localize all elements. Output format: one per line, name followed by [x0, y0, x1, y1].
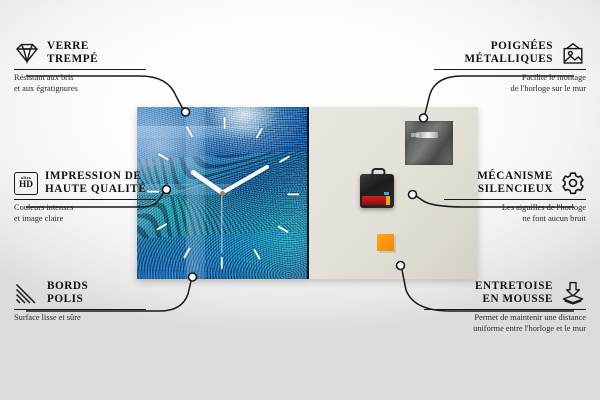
feature-verre-trempe: VERRE TREMPÉ Résistant aux bris et aux é… — [14, 40, 146, 95]
clock-tick — [255, 127, 263, 139]
feature-bords-polis: BORDS POLIS Surface lisse et sûre — [14, 280, 146, 324]
feature-heading-poignees: POIGNÉES MÉTALLIQUES — [434, 40, 586, 66]
picture-hanger-frame-icon — [560, 42, 586, 65]
clock-mechanism-box — [360, 174, 394, 208]
infographic-canvas: VERRE TREMPÉ Résistant aux bris et aux é… — [0, 0, 600, 400]
feature-heading-entretoise: ENTRETOISE EN MOUSSE — [424, 280, 586, 306]
clock-tick — [183, 247, 191, 259]
feature-desc-poignees: Facilite le montage de l'horloge sur le … — [434, 73, 586, 94]
clock-tick — [221, 257, 223, 269]
feature-title-mecanisme: MÉCANISME SILENCIEUX — [477, 170, 553, 196]
diamond-icon — [14, 42, 40, 64]
down-arrow-layers-icon — [560, 281, 586, 305]
polished-edge-lines-icon — [14, 282, 40, 304]
feature-title-poignees: POIGNÉES MÉTALLIQUES — [464, 40, 553, 66]
feature-divider — [434, 69, 586, 70]
feature-title-verre-trempe: VERRE TREMPÉ — [47, 40, 98, 66]
clock-tick — [185, 126, 193, 138]
clock-tick — [156, 223, 168, 231]
feature-mecanisme-silencieux: MÉCANISME SILENCIEUX Les aiguilles de l'… — [444, 170, 586, 225]
clock-tick — [279, 155, 291, 163]
metal-hanger-plate — [405, 121, 453, 165]
clock-dial — [137, 107, 307, 279]
mechanism-label-dot — [384, 192, 389, 195]
clock-tick — [277, 225, 289, 233]
ultra-hd-badge-icon: ultra HD — [14, 172, 38, 195]
mechanism-hook — [371, 168, 385, 177]
foam-spacer-pad — [377, 234, 394, 251]
feature-divider — [444, 199, 586, 200]
feature-desc-impression: Couleurs intenses et image claire — [14, 203, 156, 224]
feature-desc-bords-polis: Surface lisse et sûre — [14, 313, 146, 324]
feature-title-impression: IMPRESSION DE HAUTE QUALITÉ — [45, 170, 146, 196]
feature-title-bords-polis: BORDS POLIS — [47, 280, 88, 306]
feature-desc-verre-trempe: Résistant aux bris et aux égratignures — [14, 73, 146, 94]
clock-hour-hand — [190, 169, 224, 195]
mechanism-battery — [362, 196, 388, 205]
clock-second-hand — [221, 193, 222, 253]
clock-minute-hand — [221, 164, 270, 195]
clock-tick — [287, 193, 299, 195]
feature-divider — [14, 199, 156, 200]
feature-poignees-metalliques: POIGNÉES MÉTALLIQUES Facilite le montage… — [434, 40, 586, 95]
feature-heading-impression: ultra HD IMPRESSION DE HAUTE QUALITÉ — [14, 170, 156, 196]
feature-impression-haute-qualite: ultra HD IMPRESSION DE HAUTE QUALITÉ Cou… — [14, 170, 156, 225]
clock-tick — [223, 117, 225, 129]
clock-hub — [220, 191, 225, 196]
feature-desc-mecanisme: Les aiguilles de l'horloge ne font aucun… — [444, 203, 586, 224]
feature-desc-entretoise: Permet de maintenir une distance uniform… — [424, 313, 586, 334]
clock-face-glass-panel — [137, 107, 309, 279]
feature-heading-bords-polis: BORDS POLIS — [14, 280, 146, 306]
feature-heading-mecanisme: MÉCANISME SILENCIEUX — [444, 170, 586, 196]
feature-divider — [424, 309, 586, 310]
feature-divider — [14, 69, 146, 70]
product-image — [137, 107, 478, 279]
clock-tick — [157, 153, 169, 161]
clock-tick — [253, 248, 261, 260]
feature-heading-verre-trempe: VERRE TREMPÉ — [14, 40, 146, 66]
feature-entretoise-en-mousse: ENTRETOISE EN MOUSSE Permet de maintenir… — [424, 280, 586, 335]
feature-divider — [14, 309, 146, 310]
feature-title-entretoise: ENTRETOISE EN MOUSSE — [475, 280, 553, 306]
gear-icon — [560, 171, 586, 195]
